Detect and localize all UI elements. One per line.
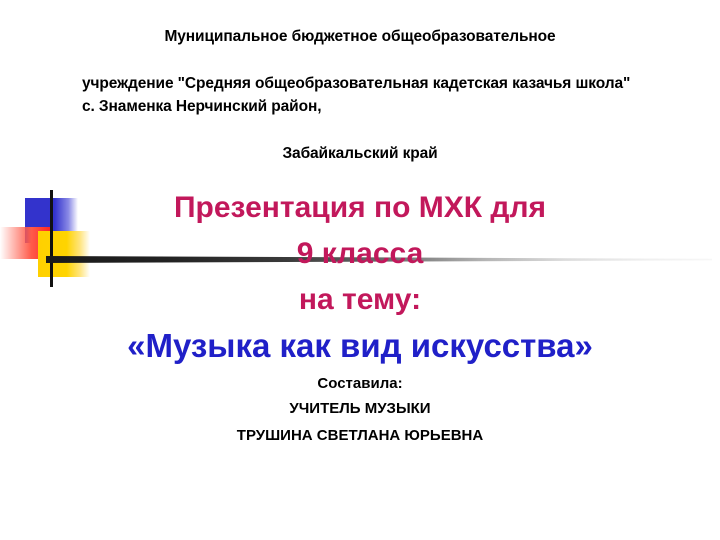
title-line-1: Презентация по МХК для (0, 191, 720, 225)
author-role: УЧИТЕЛЬ МУЗЫКИ (0, 400, 720, 417)
author-name: ТРУШИНА СВЕТЛАНА ЮРЬЕВНА (0, 427, 720, 444)
presentation-title-slide: Муниципальное бюджетное общеобразователь… (0, 0, 720, 540)
organization-region: Забайкальский край (0, 145, 720, 163)
organization-line-1: Муниципальное бюджетное общеобразователь… (0, 28, 720, 46)
title-line-2: 9 класса (0, 237, 720, 271)
author-label: Составила: (0, 375, 720, 392)
presentation-topic: «Музыка как вид искусства» (0, 327, 720, 365)
organization-paragraph: учреждение "Средняя общеобразовательная … (82, 72, 642, 118)
title-line-3: на тему: (0, 283, 720, 317)
